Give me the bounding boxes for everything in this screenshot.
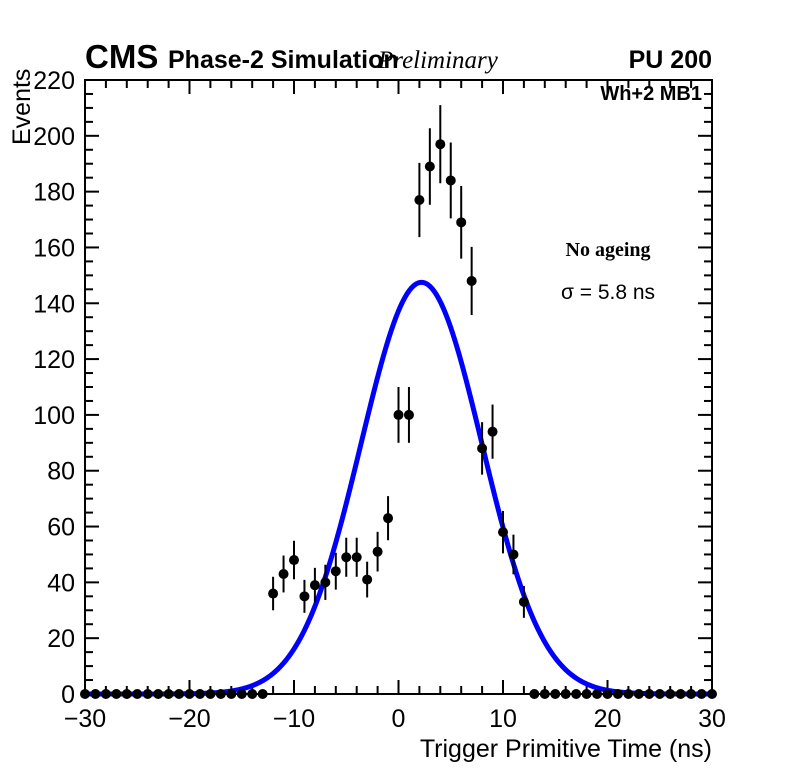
data-point: [185, 689, 195, 699]
marker: [519, 597, 529, 607]
marker: [655, 689, 665, 699]
marker: [467, 276, 477, 286]
plot-canvas: CMS Phase-2 Simulation Preliminary PU 20…: [0, 0, 796, 772]
gaussian-fit-curve: [85, 282, 712, 694]
data-point: [373, 532, 383, 572]
marker: [623, 689, 633, 699]
marker: [373, 547, 383, 557]
marker: [561, 689, 571, 699]
marker: [143, 689, 153, 699]
marker: [383, 513, 393, 523]
marker: [352, 552, 362, 562]
data-point: [394, 387, 404, 443]
data-point: [111, 689, 121, 699]
x-axis-title: Trigger Primitive Time (ns): [420, 735, 712, 763]
data-point: [258, 689, 268, 699]
marker: [205, 689, 215, 699]
marker: [90, 689, 100, 699]
data-point: [582, 689, 592, 699]
marker: [592, 689, 602, 699]
marker: [310, 580, 320, 590]
marker: [299, 591, 309, 601]
marker: [132, 689, 142, 699]
marker: [456, 217, 466, 227]
cms-plot-svg: CMS Phase-2 Simulation Preliminary PU 20…: [0, 0, 796, 772]
marker: [258, 689, 268, 699]
y-tick-label: 0: [61, 681, 75, 709]
region-label: Wh+2 MB1: [600, 83, 702, 105]
marker: [289, 555, 299, 565]
marker: [216, 689, 226, 699]
y-tick-label: 160: [33, 234, 75, 262]
marker: [164, 689, 174, 699]
y-tick-label: 140: [33, 290, 75, 318]
data-point: [237, 689, 247, 699]
marker: [237, 689, 247, 699]
marker: [80, 689, 90, 699]
data-point: [414, 163, 424, 237]
x-tick-label: 10: [489, 705, 517, 733]
data-point: [289, 541, 299, 580]
data-point: [634, 689, 644, 699]
marker: [644, 689, 654, 699]
data-point: [697, 689, 707, 699]
marker: [320, 577, 330, 587]
y-tick-label: 120: [33, 346, 75, 374]
data-point: [122, 689, 132, 699]
marker: [508, 549, 518, 559]
data-point: [435, 105, 445, 183]
data-point: [174, 689, 184, 699]
data-point: [550, 689, 560, 699]
y-tick-label: 220: [33, 67, 75, 95]
y-tick-label: 60: [47, 514, 75, 542]
marker: [247, 689, 257, 699]
y-axis-title: Events: [8, 69, 36, 145]
marker: [613, 689, 623, 699]
marker: [101, 689, 111, 699]
data-point: [665, 689, 675, 699]
marker: [529, 689, 539, 699]
data-point: [676, 689, 686, 699]
marker: [582, 689, 592, 699]
x-tick-label: −20: [168, 705, 210, 733]
marker: [435, 139, 445, 149]
data-point: [101, 689, 111, 699]
preliminary-label: Preliminary: [377, 47, 499, 74]
data-point: [686, 689, 696, 699]
marker: [540, 689, 550, 699]
data-point: [571, 689, 581, 699]
data-point: [561, 689, 571, 699]
marker: [603, 689, 613, 699]
data-point: [268, 577, 278, 610]
marker: [268, 589, 278, 599]
marker: [665, 689, 675, 699]
data-point: [488, 405, 498, 459]
data-point: [153, 689, 163, 699]
marker: [153, 689, 163, 699]
marker: [122, 689, 132, 699]
data-point: [644, 689, 654, 699]
data-point: [352, 538, 362, 577]
data-point: [164, 689, 174, 699]
data-point: [425, 128, 435, 204]
x-tick-label: −10: [273, 705, 315, 733]
pileup-label: PU 200: [629, 46, 712, 74]
marker: [111, 689, 121, 699]
sigma-label: σ = 5.8 ns: [561, 281, 655, 304]
data-point: [613, 689, 623, 699]
marker: [195, 689, 205, 699]
cms-logo-label: CMS: [85, 38, 158, 75]
x-tick-label: 20: [594, 705, 622, 733]
data-point: [529, 689, 539, 699]
y-tick-label: 80: [47, 458, 75, 486]
marker: [425, 162, 435, 172]
data-point: [279, 556, 289, 593]
data-point: [446, 143, 456, 219]
data-point: [592, 689, 602, 699]
data-point: [603, 689, 613, 699]
data-point: [132, 689, 142, 699]
marker: [279, 569, 289, 579]
data-point: [623, 689, 633, 699]
data-point: [299, 580, 309, 613]
marker: [498, 527, 508, 537]
data-point: [143, 689, 153, 699]
y-tick-label: 180: [33, 179, 75, 207]
data-point: [467, 247, 477, 315]
marker: [571, 689, 581, 699]
data-point: [226, 689, 236, 699]
y-tick-label: 100: [33, 402, 75, 430]
data-point: [456, 186, 466, 259]
marker: [174, 689, 184, 699]
data-point: [341, 538, 351, 577]
x-tick-label: 30: [698, 705, 726, 733]
marker: [477, 443, 487, 453]
data-point: [404, 387, 414, 443]
data-point: [205, 689, 215, 699]
marker: [686, 689, 696, 699]
marker: [414, 195, 424, 205]
simulation-label: Phase-2 Simulation: [168, 46, 399, 74]
ageing-label: No ageing: [566, 239, 651, 261]
data-point: [707, 689, 717, 699]
data-point: [362, 562, 372, 598]
x-tick-label: −30: [64, 705, 106, 733]
y-tick-label: 40: [47, 569, 75, 597]
marker: [226, 689, 236, 699]
marker: [341, 552, 351, 562]
marker: [488, 427, 498, 437]
data-point: [655, 689, 665, 699]
data-point: [383, 496, 393, 540]
marker: [697, 689, 707, 699]
marker: [362, 575, 372, 585]
marker: [707, 689, 717, 699]
x-tick-label: 0: [392, 705, 406, 733]
data-point: [216, 689, 226, 699]
marker: [634, 689, 644, 699]
data-point: [195, 689, 205, 699]
y-tick-label: 200: [33, 123, 75, 151]
marker: [676, 689, 686, 699]
data-point: [80, 689, 90, 699]
marker: [446, 175, 456, 185]
data-point: [90, 689, 100, 699]
marker: [550, 689, 560, 699]
y-tick-label: 20: [47, 625, 75, 653]
marker: [404, 410, 414, 420]
data-point: [247, 689, 257, 699]
data-point: [540, 689, 550, 699]
marker: [394, 410, 404, 420]
marker: [331, 566, 341, 576]
marker: [185, 689, 195, 699]
